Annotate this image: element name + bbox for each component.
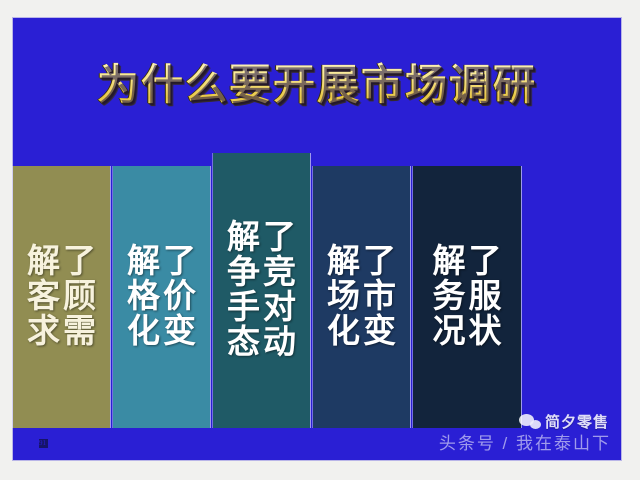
column-price-change[interactable]: 了价变解格化 [113,166,210,428]
glyph: 态 [226,326,262,361]
vertical-run: 解客求 [26,245,62,351]
column-competitor-moves[interactable]: 了竞对动解争手态 [213,153,310,428]
glyph: 状 [467,315,503,350]
glyph: 价 [162,280,198,315]
vertical-run: 解场化 [326,245,362,351]
vertical-run: 了顾需 [62,245,98,351]
glyph: 了 [262,221,298,256]
toutiao-watermark: 头条号 / 我在泰山下 [439,429,611,454]
vertical-run: 解务况 [431,245,467,351]
column-group: 了顾需解客求了价变解格化了竞对动解争手态了市变解场化了服状解务况 [13,148,621,428]
glyph: 竞 [262,256,298,291]
glyph: 了 [362,245,398,280]
glyph: 争 [226,256,262,291]
vertical-run: 了竞对动 [262,221,298,362]
glyph: 务 [431,280,467,315]
slide-screenshot: 为什么要开展市场调研 了顾需解客求了价变解格化了竞对动解争手态了市变解场化了服状… [0,0,640,480]
column-market-change[interactable]: 了市变解场化 [313,166,410,428]
glyph: 手 [226,291,262,326]
glyph: 化 [326,315,362,350]
glyph: 顾 [62,280,98,315]
vertical-run: 了价变 [162,245,198,351]
glyph: 求 [26,315,62,350]
glyph: 动 [262,326,298,361]
glyph: 场 [326,280,362,315]
presentation-slide: 为什么要开展市场调研 了顾需解客求了价变解格化了竞对动解争手态了市变解场化了服状… [13,18,621,460]
glyph: 解 [226,221,262,256]
glyph: 了 [62,245,98,280]
glyph: 解 [431,245,467,280]
column-label-customer-needs: 了顾需解客求 [26,245,98,429]
glyph: 变 [362,315,398,350]
column-label-service-status: 了服状解务况 [431,245,503,429]
glyph: 了 [162,245,198,280]
column-customer-needs[interactable]: 了顾需解客求 [13,166,110,428]
glyph: 市 [362,280,398,315]
page-title: 为什么要开展市场调研 [97,51,537,116]
glyph: 格 [126,280,162,315]
column-service-status[interactable]: 了服状解务况 [413,166,521,428]
glyph: 化 [126,315,162,350]
vertical-run: 了市变 [362,245,398,351]
vertical-run: 解争手态 [226,221,262,362]
vertical-run: 了服状 [467,245,503,351]
glyph: 服 [467,280,503,315]
glyph: 需 [62,315,98,350]
column-label-price-change: 了价变解格化 [126,245,198,429]
column-label-market-change: 了市变解场化 [326,245,398,429]
glyph: 解 [326,245,362,280]
glyph: 解 [126,245,162,280]
glyph: 对 [262,291,298,326]
glyph: 客 [26,280,62,315]
glyph: 解 [26,245,62,280]
vertical-run: 解格化 [126,245,162,351]
glyph: 了 [467,245,503,280]
glyph: 况 [431,315,467,350]
column-label-competitor-moves: 了竞对动解争手态 [226,221,298,429]
slide-title-bar: 为什么要开展市场调研 [13,18,621,148]
glyph: 变 [162,315,198,350]
page-number-marker: 91 [39,439,48,448]
